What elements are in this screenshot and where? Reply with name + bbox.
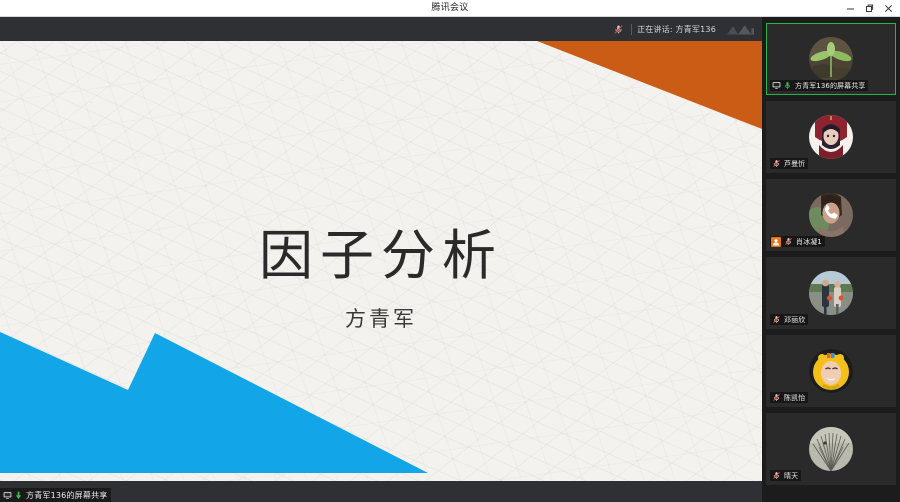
tile-label: 肖冰凝1 [770,236,825,247]
minimize-button[interactable] [841,0,860,16]
participant-tile[interactable]: 陈凯怡 [766,335,896,407]
mic-muted-icon [771,159,781,169]
tencent-meeting-window: 腾讯会议 正在讲话: 方青军136 [0,0,900,502]
mic-muted-icon [771,471,781,481]
host-badge-icon [771,237,781,247]
monitor-icon [771,81,781,91]
participant-name: 陈凯怡 [784,393,805,403]
participant-name: 肖冰凝1 [796,237,822,247]
mic-muted-icon [771,315,781,325]
participant-name: 芦曼忻 [784,159,805,169]
participant-tile[interactable]: 方青军136的屏幕共享 [766,23,896,95]
participant-tile[interactable]: 晴天 [766,413,896,485]
download-arrow-icon [13,490,23,500]
mic-active-icon [782,81,792,91]
tile-label: 芦曼忻 [770,158,808,169]
tile-label: 晴天 [770,470,801,481]
share-status-pill[interactable]: 方青军136的屏幕共享 [0,488,111,502]
mic-muted-icon [771,393,781,403]
avatar [809,37,853,81]
share-status-label: 方青军136的屏幕共享 [26,490,107,501]
mic-muted-icon [783,237,793,247]
avatar [809,349,853,393]
meeting-toolbar: 正在讲话: 方青军136 [0,17,762,41]
phone-call-icon [820,202,842,228]
avatar [809,427,853,471]
tile-label: 陈凯怡 [770,392,808,403]
window-title: 腾讯会议 [0,0,900,16]
slide-title: 因子分析 [0,229,762,283]
presentation-slide: 因子分析 方青军 [0,41,762,481]
audio-wave-icon[interactable] [724,17,756,41]
avatar [809,271,853,315]
participant-tile[interactable]: 肖冰凝1 [766,179,896,251]
toolbar-divider [631,24,632,35]
avatar [809,115,853,159]
monitor-icon [2,490,12,500]
close-button[interactable] [879,0,898,16]
shared-screen-stage[interactable]: 因子分析 方青军 [0,41,762,488]
participant-name: 邓丽欣 [784,315,805,325]
participant-tile[interactable]: 邓丽欣 [766,257,896,329]
participant-name: 方青军136的屏幕共享 [795,81,865,91]
participant-sidebar[interactable]: 方青军136的屏幕共享 [762,17,900,502]
screen-share-status-bar: 方青军136的屏幕共享 [0,488,762,502]
active-speaker-indicator: 正在讲话: 方青军136 [611,17,716,41]
slide-subtitle: 方青军 [0,309,762,330]
slide-text-block: 因子分析 方青军 [0,41,762,481]
restore-button[interactable] [860,0,879,16]
tile-label: 方青军136的屏幕共享 [770,80,868,91]
participant-tile[interactable]: 芦曼忻 [766,101,896,173]
tile-label: 邓丽欣 [770,314,808,325]
participant-name: 晴天 [784,471,798,481]
mic-muted-icon [611,22,626,37]
window-titlebar: 腾讯会议 [0,0,900,17]
speaking-label: 正在讲话: 方青军136 [637,24,716,35]
window-controls [841,0,898,17]
